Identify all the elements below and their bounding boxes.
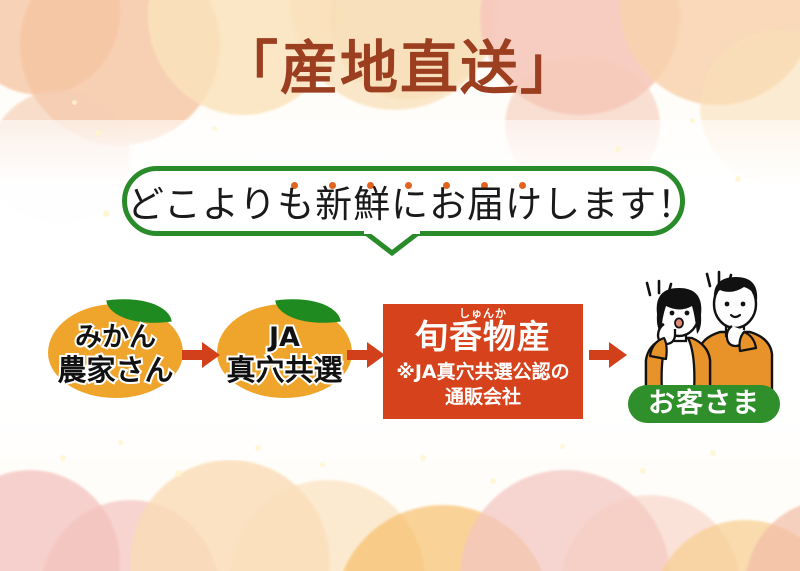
sparkle bbox=[255, 445, 261, 451]
flow-step-label-line2: 農家さん bbox=[48, 354, 183, 386]
flow-step-label-line1: みかん bbox=[48, 322, 183, 354]
sparkle bbox=[735, 176, 741, 182]
sparkle bbox=[175, 470, 182, 477]
flow-arrow-icon bbox=[347, 340, 385, 370]
company-name: 旬香物産 bbox=[383, 318, 583, 356]
flow-step-ja-kyosen: JA 真穴共選 bbox=[217, 296, 352, 400]
flow-arrow-icon bbox=[589, 340, 627, 370]
customer-badge: お客さま bbox=[628, 385, 780, 423]
flow-step-label: みかん 農家さん bbox=[48, 322, 183, 386]
promo-banner: 「産地直送」 どこよりも新鮮にお届けします！ みかん 農家さん JA 真穴共選 bbox=[0, 0, 800, 571]
sparkle bbox=[640, 468, 646, 474]
sparkle bbox=[103, 210, 110, 217]
company-note-line1: ※JA真穴共選公認の bbox=[383, 360, 583, 385]
flow-arrow-icon bbox=[182, 340, 220, 370]
company-note-line2: 通販会社 bbox=[383, 385, 583, 410]
sparkle bbox=[420, 455, 426, 461]
flow-step-label: JA 真穴共選 bbox=[217, 322, 352, 386]
speech-bubble: どこよりも新鮮にお届けします！ bbox=[122, 166, 685, 236]
customer-badge-label: お客さま bbox=[628, 389, 780, 419]
two-people-illustration bbox=[628, 268, 788, 393]
sparkle bbox=[690, 118, 695, 123]
flow-step-company-box: しゅんか 旬香物産 ※JA真穴共選公認の 通販会社 bbox=[383, 304, 583, 419]
sparkle bbox=[560, 444, 565, 449]
flow-step-label-line1: JA bbox=[217, 322, 352, 354]
sparkle bbox=[60, 455, 66, 461]
sparkle bbox=[615, 146, 621, 152]
sparkle bbox=[320, 462, 325, 467]
sparkle bbox=[490, 478, 496, 484]
speech-bubble-tail bbox=[364, 231, 420, 257]
flow-step-label-line2: 真穴共選 bbox=[217, 354, 352, 386]
flow-step-mikan-farmer: みかん 農家さん bbox=[48, 296, 183, 400]
sparkle bbox=[118, 440, 123, 445]
speech-bubble-text: どこよりも新鮮にお届けします！ bbox=[127, 185, 690, 225]
sparkle bbox=[95, 130, 101, 136]
company-note: ※JA真穴共選公認の 通販会社 bbox=[383, 360, 583, 410]
sparkle bbox=[710, 450, 716, 456]
page-title: 「産地直送」 bbox=[0, 33, 800, 103]
sparkle bbox=[212, 126, 217, 131]
